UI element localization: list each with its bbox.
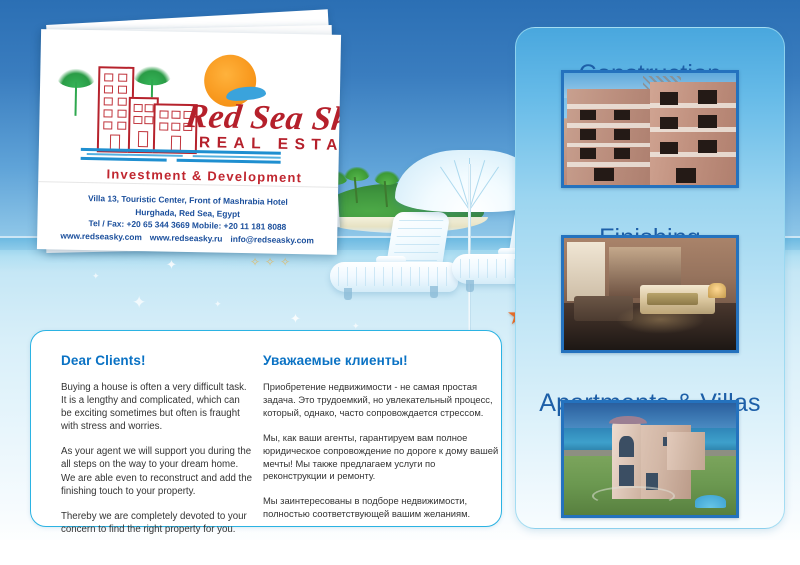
seaside-villa-image bbox=[564, 403, 736, 515]
business-card-front: Red Sea Sky REAL ESTATE Investment & Dev… bbox=[37, 29, 341, 255]
service-photo-construction bbox=[561, 70, 739, 188]
water-sparkle-icon: ✦ bbox=[166, 258, 177, 271]
bedroom-interior-image bbox=[564, 238, 736, 350]
russian-heading: Уважаемые клиенты! bbox=[263, 353, 501, 368]
english-paragraph-2: As your agent we will support you during… bbox=[61, 445, 253, 497]
letter-column-english: Dear Clients! Buying a house is often a … bbox=[31, 331, 253, 526]
service-photo-finishing bbox=[561, 235, 739, 353]
email-link[interactable]: info@redseasky.com bbox=[230, 234, 314, 246]
construction-site-image bbox=[564, 73, 736, 185]
palm-tree-icon bbox=[65, 64, 66, 116]
fish-decoration-icon: ✧✧✧ bbox=[250, 255, 295, 269]
water-sparkle-icon: ✦ bbox=[214, 300, 222, 309]
welcome-letter-panel: Dear Clients! Buying a house is often a … bbox=[30, 330, 502, 527]
company-logo: Red Sea Sky REAL ESTATE Investment & Dev… bbox=[64, 48, 316, 175]
english-paragraph-3: Thereby we are completely devoted to you… bbox=[61, 510, 253, 536]
russian-paragraph-1: Приобретение недвижимости - не самая про… bbox=[263, 381, 501, 420]
english-heading: Dear Clients! bbox=[61, 353, 253, 368]
water-sparkle-icon: ✦ bbox=[290, 312, 301, 325]
services-panel: Construction bbox=[515, 27, 785, 529]
letter-column-russian: Уважаемые клиенты! Приобретение недвижим… bbox=[253, 331, 501, 526]
english-paragraph-1: Buying a house is often a very difficult… bbox=[61, 381, 253, 433]
water-sparkle-icon: ✦ bbox=[132, 294, 146, 311]
water-sparkle-icon: ✦ bbox=[92, 272, 100, 281]
service-photo-apartments-villas bbox=[561, 400, 739, 518]
russian-paragraph-3: Мы заинтересованы в подборе недвижимости… bbox=[263, 495, 501, 521]
brand-script-name: Red Sea Sky bbox=[183, 98, 341, 139]
contact-block: Villa 13, Touristic Center, Front of Mas… bbox=[37, 191, 338, 247]
brochure-page: ✦ ✦ ✦ ✦ ✦ ✦ ✧✧✧ ★ bbox=[0, 0, 800, 565]
brand-sub-name: REAL ESTATE bbox=[199, 134, 341, 155]
russian-paragraph-2: Мы, как ваши агенты, гарантируем вам пол… bbox=[263, 432, 501, 484]
website-link-com[interactable]: www.redseasky.com bbox=[60, 230, 142, 242]
website-link-ru[interactable]: www.redseasky.ru bbox=[150, 232, 223, 243]
bottom-margin bbox=[0, 540, 800, 565]
